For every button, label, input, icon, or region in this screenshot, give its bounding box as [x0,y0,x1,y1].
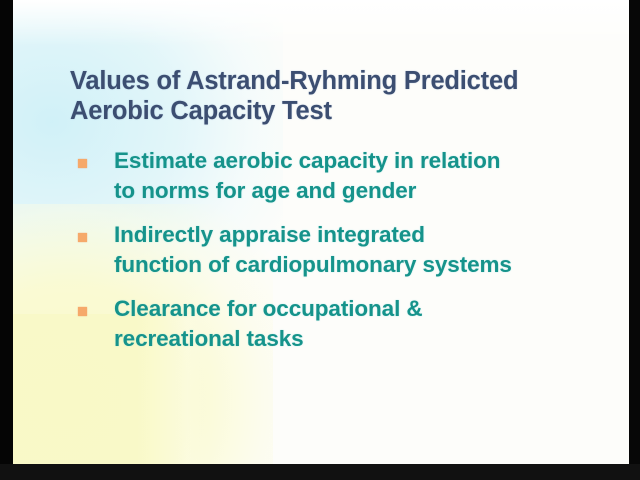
bullet-item-3-line-1: Clearance for occupational & [114,294,620,324]
slide-title-line-1: Values of Astrand-Ryhming Predicted [70,66,570,96]
slide-content: Values of Astrand-Ryhming Predicted Aero… [13,0,629,464]
video-frame: Values of Astrand-Ryhming Predicted Aero… [0,0,640,480]
bullet-item-3-line-2: recreational tasks [114,324,620,354]
letterbox-bar-right [629,0,640,480]
bullet-item-2: Indirectly appraise integrated function … [70,220,620,280]
letterbox-bar-bottom [0,464,640,480]
presentation-slide: Values of Astrand-Ryhming Predicted Aero… [13,0,629,464]
bullet-item-1: Estimate aerobic capacity in relation to… [70,146,620,206]
square-bullet-icon [78,233,87,242]
bullet-item-2-line-2: function of cardiopulmonary systems [114,250,620,280]
bullet-item-3-text: Clearance for occupational & recreationa… [114,294,620,354]
bullet-item-2-text: Indirectly appraise integrated function … [114,220,620,280]
bullet-item-1-line-1: Estimate aerobic capacity in relation [114,146,620,176]
bullet-item-1-text: Estimate aerobic capacity in relation to… [114,146,620,206]
bullet-item-2-line-1: Indirectly appraise integrated [114,220,620,250]
slide-title: Values of Astrand-Ryhming Predicted Aero… [70,66,570,127]
bullet-item-1-line-2: to norms for age and gender [114,176,620,206]
square-bullet-icon [78,307,87,316]
bullet-item-3: Clearance for occupational & recreationa… [70,294,620,354]
square-bullet-icon [78,159,87,168]
bullet-list: Estimate aerobic capacity in relation to… [70,146,620,368]
letterbox-bar-left [0,0,13,480]
slide-title-line-2: Aerobic Capacity Test [70,96,570,126]
